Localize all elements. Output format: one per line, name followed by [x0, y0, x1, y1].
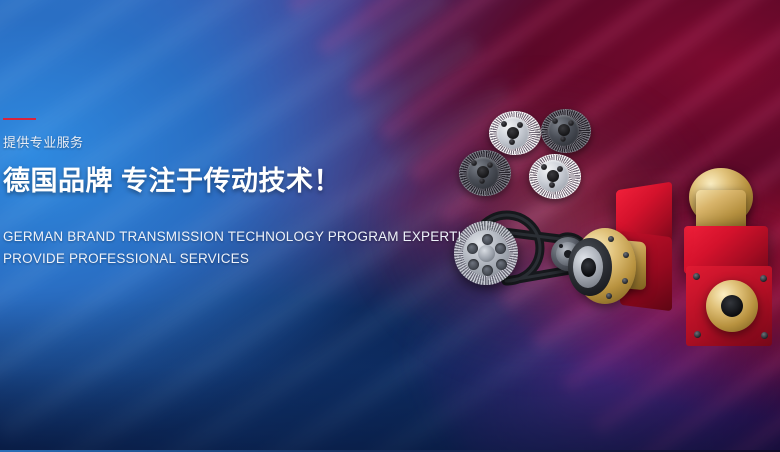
promo-banner: 提供专业服务 德国品牌 专注于传动技术！ GERMAN BRAND TRANSM…	[0, 0, 780, 452]
accent-rule	[3, 118, 36, 120]
bottom-vignette	[0, 298, 780, 452]
headline-text: 德国品牌 专注于传动技术！	[3, 166, 383, 196]
subline-primary: GERMAN BRAND TRANSMISSION TECHNOLOGY PRO…	[3, 226, 383, 248]
eyebrow-text: 提供专业服务	[3, 136, 383, 150]
subline-secondary: PROVIDE PROFESSIONAL SERVICES	[3, 248, 383, 270]
banner-copy: 提供专业服务 德国品牌 专注于传动技术！ GERMAN BRAND TRANSM…	[3, 118, 383, 269]
